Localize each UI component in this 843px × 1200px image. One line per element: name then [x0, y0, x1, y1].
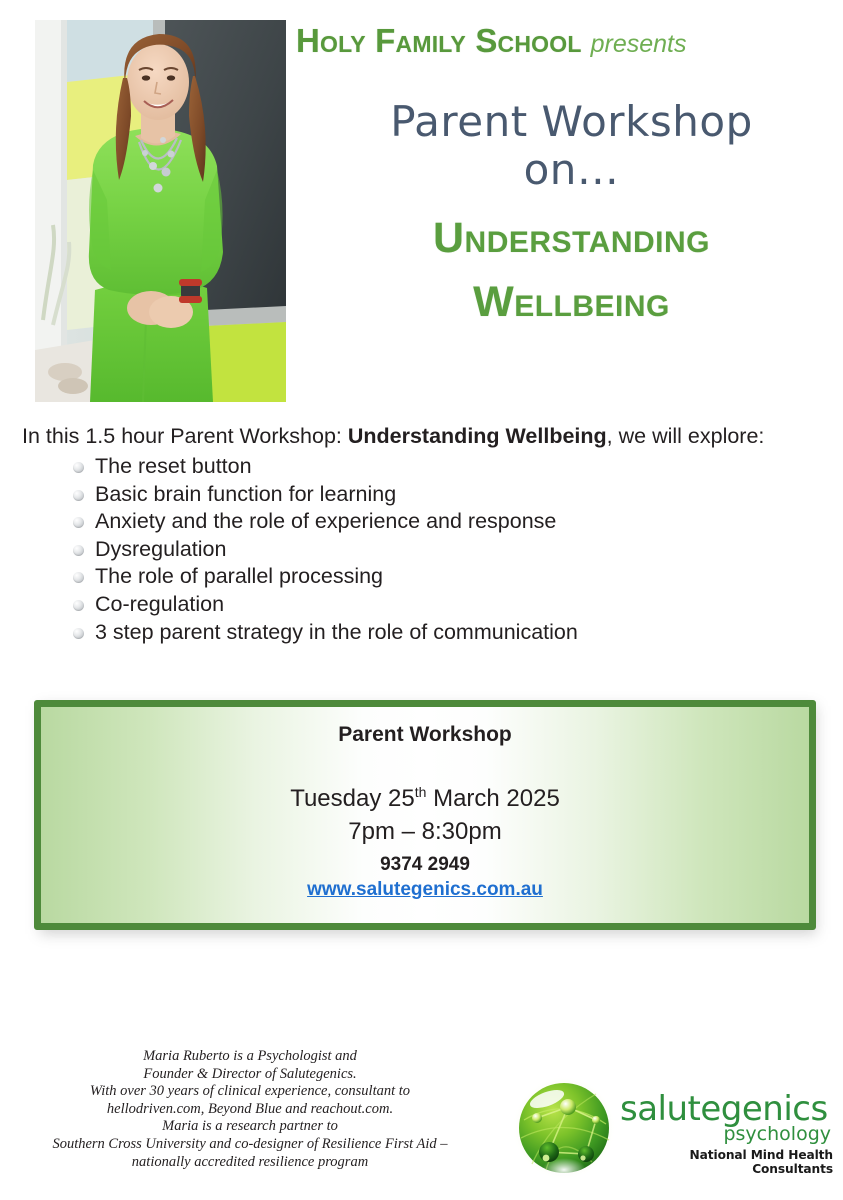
- date-ordinal: th: [415, 784, 427, 800]
- topics-list: The reset button Basic brain function fo…: [68, 453, 808, 646]
- school-name: Holy Family School: [296, 22, 582, 59]
- bullet-sphere-icon: [73, 462, 84, 473]
- bullet-sphere-icon: [73, 628, 84, 639]
- details-box-datetime: Tuesday 25th March 2025 7pm – 8:30pm: [41, 776, 809, 848]
- date-day: Tuesday 25: [290, 785, 415, 812]
- list-item: Dysregulation: [68, 536, 808, 564]
- bio-line: Founder & Director of Salutegenics.: [10, 1066, 490, 1084]
- website-link[interactable]: www.salutegenics.com.au: [307, 879, 543, 900]
- phone-number: 9374 2949: [41, 854, 809, 876]
- list-item-label: 3 step parent strategy in the role of co…: [95, 620, 578, 644]
- header-title-line: Holy Family Schoolpresents: [296, 22, 843, 66]
- logo-sphere-icon: [512, 1076, 616, 1180]
- time-range: 7pm – 8:30pm: [41, 815, 809, 848]
- workshop-main-title: Understanding Wellbeing: [300, 206, 843, 334]
- bullet-sphere-icon: [73, 600, 84, 611]
- list-item: The role of parallel processing: [68, 563, 808, 591]
- bullet-sphere-icon: [73, 490, 84, 501]
- list-item: The reset button: [68, 453, 808, 481]
- bullet-sphere-icon: [73, 572, 84, 583]
- list-item: Anxiety and the role of experience and r…: [68, 508, 808, 536]
- salutegenics-logo: salutegenics psychology National Mind He…: [512, 1076, 834, 1186]
- list-item-label: The role of parallel processing: [95, 564, 383, 588]
- website-link-wrapper: www.salutegenics.com.au: [41, 879, 809, 901]
- intro-paragraph: In this 1.5 hour Parent Workshop: Unders…: [22, 424, 822, 449]
- bio-line: With over 30 years of clinical experienc…: [10, 1083, 490, 1101]
- main-title-line-2: Wellbeing: [300, 270, 843, 334]
- list-item: Co-regulation: [68, 591, 808, 619]
- bullet-sphere-icon: [73, 517, 84, 528]
- bio-line: Southern Cross University and co-designe…: [10, 1136, 490, 1154]
- date-rest: March 2025: [426, 785, 559, 812]
- list-item-label: The reset button: [95, 454, 252, 478]
- list-item-label: Basic brain function for learning: [95, 482, 396, 506]
- intro-prefix: In this 1.5 hour Parent Workshop:: [22, 424, 348, 448]
- presenter-photo: [35, 20, 286, 402]
- bio-line: nationally accredited resilience program: [10, 1154, 490, 1172]
- workshop-subtitle: Parent Workshop on…: [300, 98, 843, 194]
- intro-bold-topic: Understanding Wellbeing: [348, 424, 607, 448]
- list-item: 3 step parent strategy in the role of co…: [68, 619, 808, 647]
- intro-suffix: , we will explore:: [607, 424, 765, 448]
- bio-line: Maria is a research partner to: [10, 1118, 490, 1136]
- details-box: Parent Workshop Tuesday 25th March 2025 …: [34, 700, 816, 930]
- subtitle-line-2: on…: [300, 146, 843, 194]
- subtitle-line-1: Parent Workshop: [390, 97, 753, 146]
- presenter-photo-image: [35, 20, 286, 402]
- presents-label: presents: [591, 30, 687, 58]
- list-item-label: Dysregulation: [95, 537, 226, 561]
- details-box-title: Parent Workshop: [41, 723, 809, 747]
- list-item: Basic brain function for learning: [68, 481, 808, 509]
- logo-word: salutegenics: [620, 1092, 834, 1126]
- bullet-sphere-icon: [73, 545, 84, 556]
- list-item-label: Co-regulation: [95, 592, 224, 616]
- logo-tagline: National Mind Health Consultants: [620, 1148, 834, 1176]
- main-title-line-1: Understanding: [433, 214, 710, 262]
- bio-line: hellodriven.com, Beyond Blue and reachou…: [10, 1101, 490, 1119]
- list-item-label: Anxiety and the role of experience and r…: [95, 509, 556, 533]
- bio-line: Maria Ruberto is a Psychologist and: [10, 1048, 490, 1066]
- logo-wordmark: salutegenics psychology National Mind He…: [620, 1092, 834, 1176]
- presenter-bio: Maria Ruberto is a Psychologist and Foun…: [10, 1048, 490, 1171]
